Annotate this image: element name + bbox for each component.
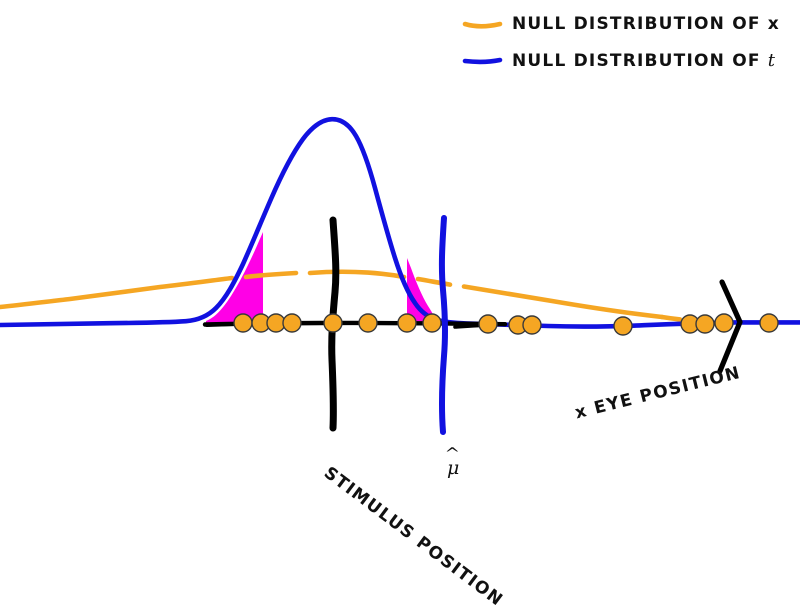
mu-hat-label: μ bbox=[447, 457, 459, 479]
sample-dot bbox=[398, 314, 416, 332]
sample-dot bbox=[234, 314, 252, 332]
legend-entry-t-text: NULL DISTRIBUTION OF bbox=[512, 51, 768, 71]
hand-drawn-plot bbox=[0, 0, 800, 600]
sample-dot bbox=[359, 314, 377, 332]
sample-dot bbox=[423, 314, 441, 332]
orange-null-distribution-curve bbox=[0, 272, 680, 320]
mu-symbol: μ bbox=[447, 457, 459, 479]
sample-dot bbox=[324, 314, 342, 332]
axis-left-stub bbox=[207, 324, 236, 325]
legend-swatches bbox=[465, 24, 500, 62]
sample-dot bbox=[283, 314, 301, 332]
blue-null-distribution-curve bbox=[0, 119, 800, 326]
sample-dot bbox=[479, 315, 497, 333]
sample-dot bbox=[696, 315, 714, 333]
sample-dot bbox=[760, 314, 778, 332]
sample-dot bbox=[523, 316, 541, 334]
sample-dot bbox=[614, 317, 632, 335]
sample-dot bbox=[715, 314, 733, 332]
legend-swatch-orange bbox=[465, 24, 500, 26]
sample-dot bbox=[267, 314, 285, 332]
legend-entry-x-text: NULL DISTRIBUTION OF bbox=[512, 14, 768, 34]
mu-hat-estimate-line bbox=[442, 218, 445, 432]
legend-entry-x: NULL DISTRIBUTION OF x bbox=[512, 14, 780, 34]
legend-swatch-blue bbox=[465, 60, 500, 62]
legend-entry-x-symbol: x bbox=[768, 14, 780, 34]
legend-entry-t: NULL DISTRIBUTION OF t bbox=[512, 50, 776, 71]
legend-entry-t-symbol: t bbox=[768, 50, 776, 71]
figure-canvas: NULL DISTRIBUTION OF x NULL DISTRIBUTION… bbox=[0, 0, 800, 600]
